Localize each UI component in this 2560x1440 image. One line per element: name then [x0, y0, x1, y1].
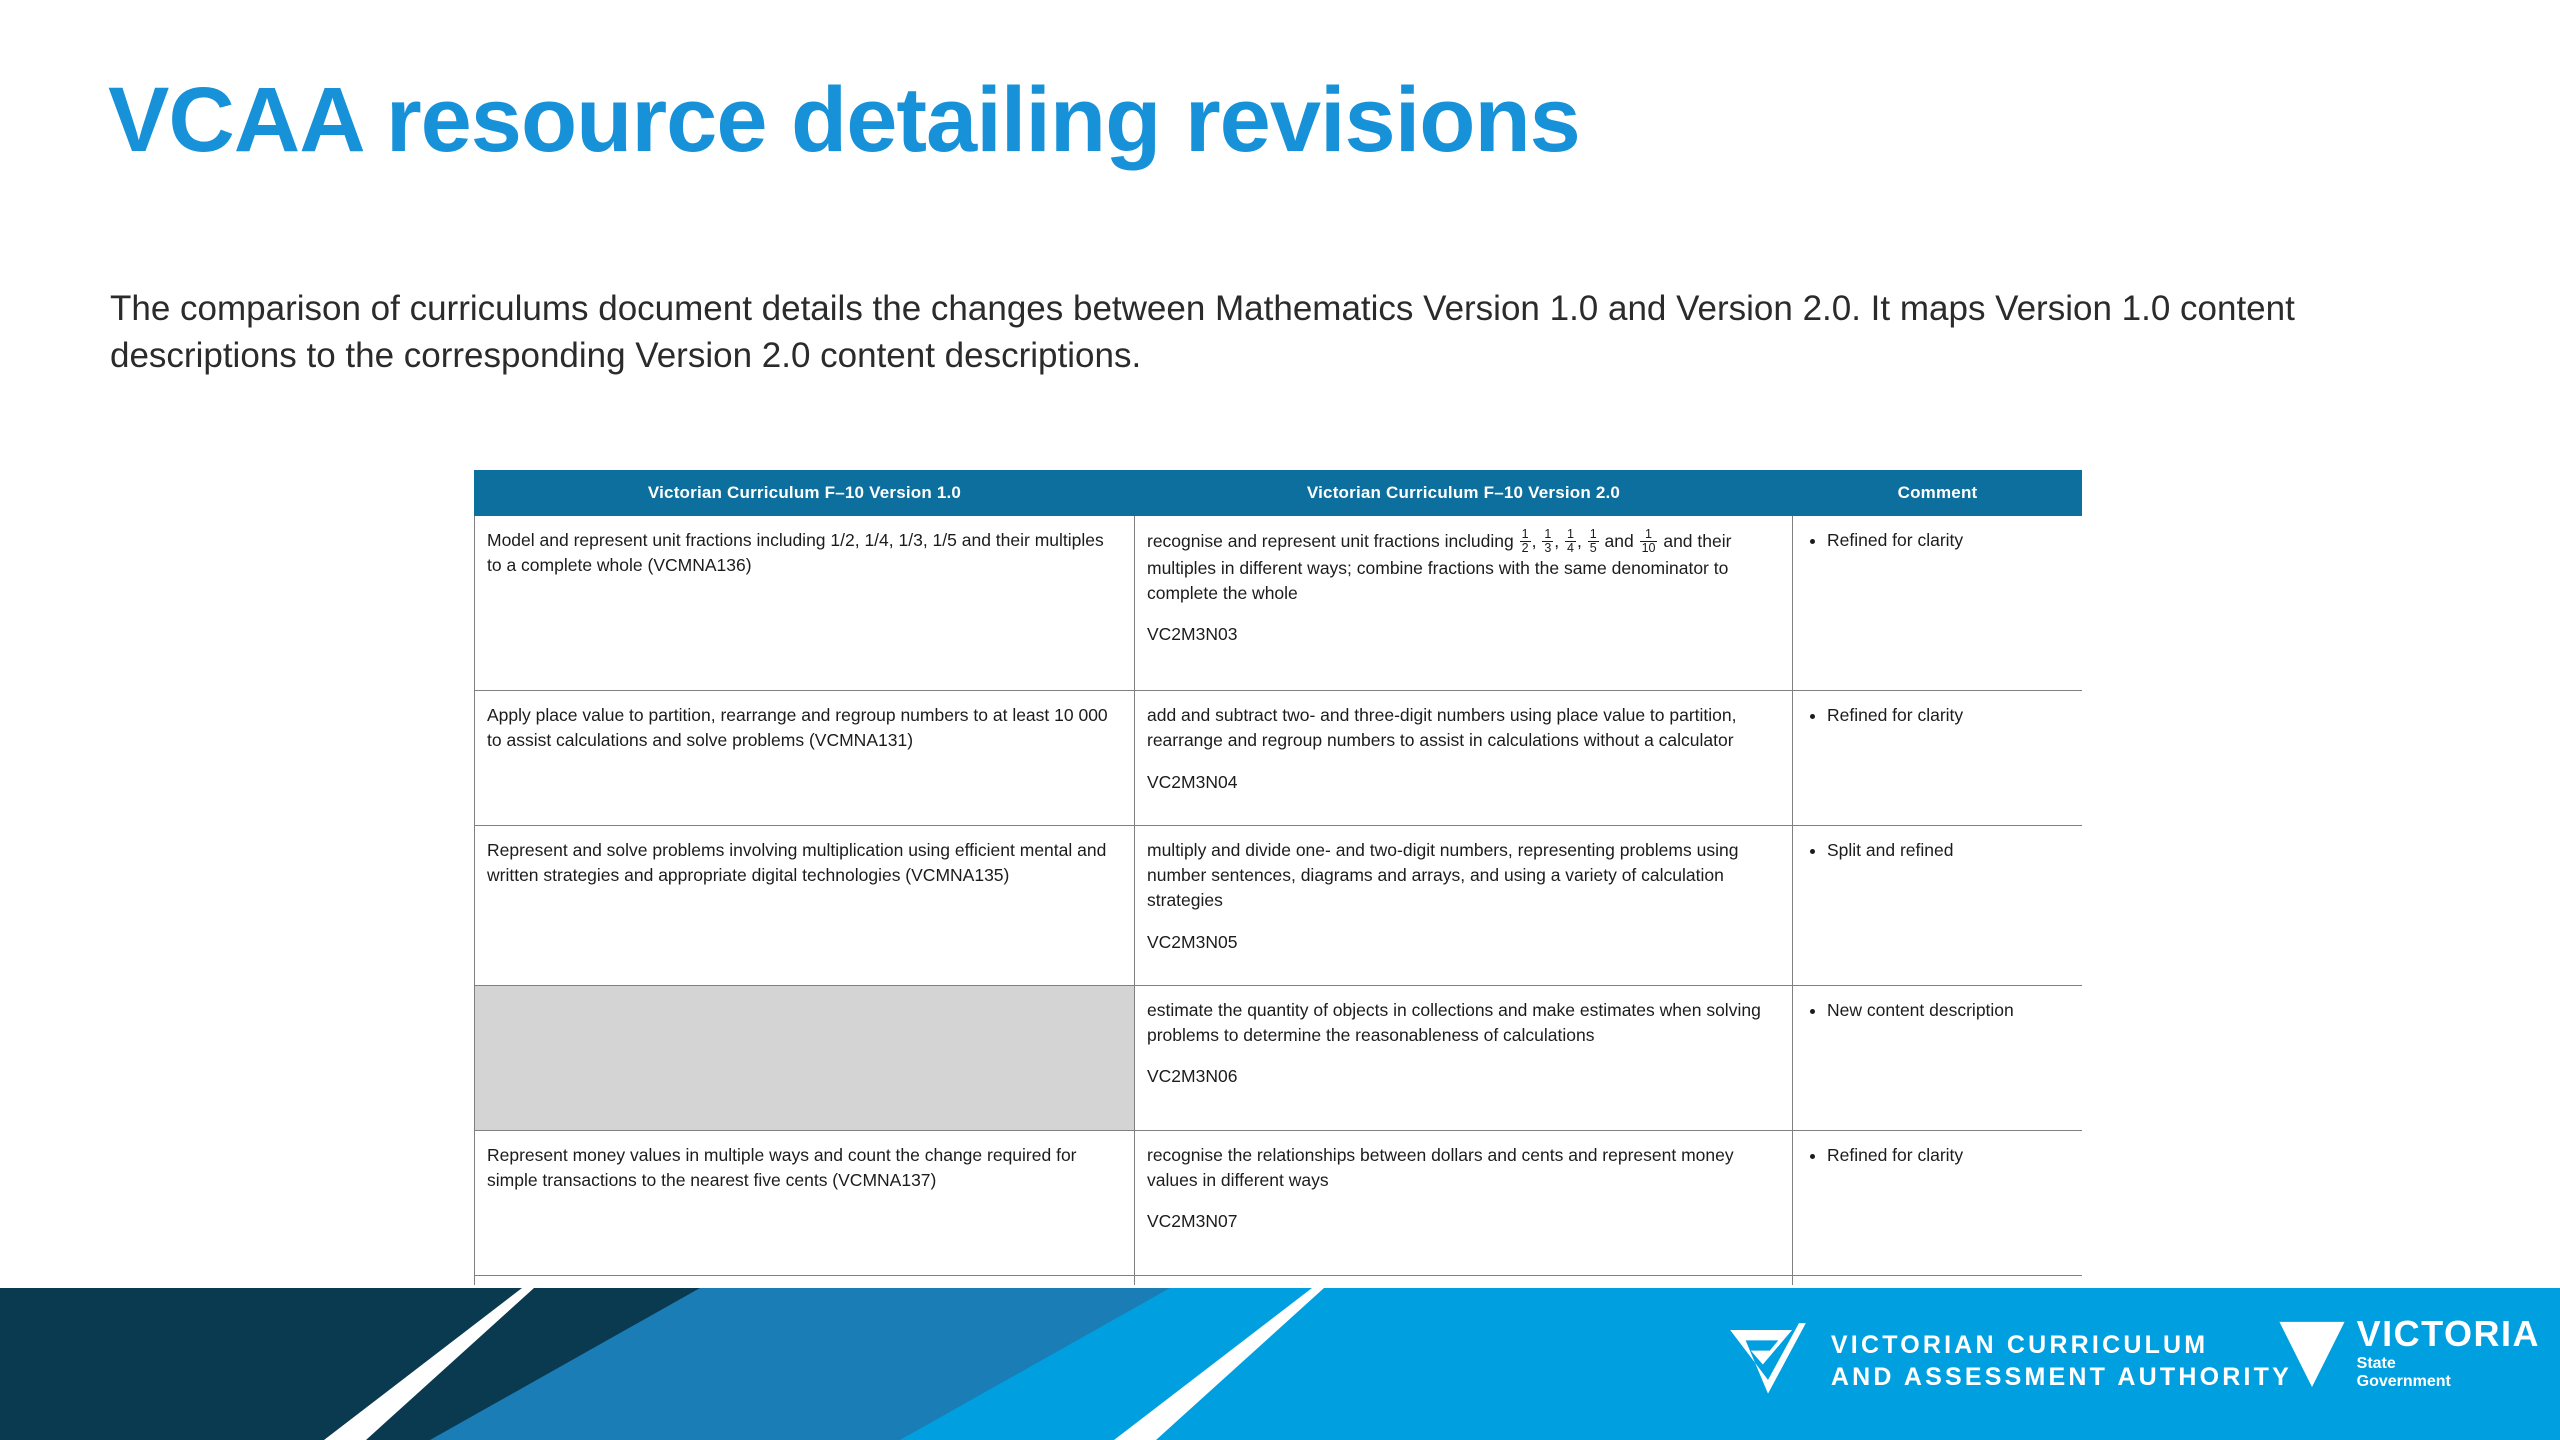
fraction-one-fifth: 15	[1588, 528, 1599, 556]
table-row: Model and represent unit fractions inclu…	[475, 516, 2083, 691]
table-row: estimate the quantity of objects in coll…	[475, 985, 2083, 1130]
intro-paragraph: The comparison of curriculums document d…	[110, 286, 2490, 379]
vcaa-logo-line-1: VICTORIAN CURRICULUM	[1831, 1329, 2292, 1361]
cell-comment	[1793, 1275, 2083, 1285]
version-2-code: VC2M3N03	[1147, 622, 1780, 647]
comment-list: Refined for clarity	[1805, 703, 2070, 728]
version-2-code: VC2M3N06	[1147, 1064, 1780, 1089]
cell-version-1: Represent and solve problems involving m…	[475, 825, 1135, 985]
vcaa-chevron-icon	[1725, 1318, 1811, 1404]
cell-version-2	[1135, 1275, 1793, 1285]
column-header-version-2: Victorian Curriculum F–10 Version 2.0	[1135, 471, 1793, 516]
comment-item: Refined for clarity	[1827, 1143, 2070, 1168]
version-2-code: VC2M3N07	[1147, 1209, 1780, 1234]
version-1-text: Apply place value to partition, rearrang…	[487, 703, 1122, 754]
cell-comment: Refined for clarity	[1793, 516, 2083, 691]
victoria-logo-subtitle-line-2: Government	[2357, 1373, 2540, 1391]
cell-version-1: Apply place value to partition, rearrang…	[475, 691, 1135, 826]
vcaa-logo: VICTORIAN CURRICULUM AND ASSESSMENT AUTH…	[1725, 1318, 2292, 1404]
cell-comment: Split and refined	[1793, 825, 2083, 985]
fraction-one-tenth: 110	[1640, 528, 1658, 556]
version-1-text: Model and represent unit fractions inclu…	[487, 528, 1122, 579]
version-2-code: VC2M3N04	[1147, 770, 1780, 795]
table-row: Represent money values in multiple ways …	[475, 1130, 2083, 1275]
version-2-text-before: recognise and represent unit fractions i…	[1147, 531, 1519, 551]
comment-list: Refined for clarity	[1805, 1143, 2070, 1168]
comment-item: Split and refined	[1827, 838, 2070, 863]
comparison-table-container: Victorian Curriculum F–10 Version 1.0 Vi…	[474, 470, 2082, 1285]
comment-item: Refined for clarity	[1827, 528, 2070, 553]
comment-item: Refined for clarity	[1827, 703, 2070, 728]
cell-version-2: add and subtract two- and three-digit nu…	[1135, 691, 1793, 826]
cell-version-2: recognise the relationships between doll…	[1135, 1130, 1793, 1275]
version-1-text: Represent and solve problems involving m…	[487, 838, 1122, 889]
cell-version-1-empty	[475, 985, 1135, 1130]
column-header-comment: Comment	[1793, 471, 2083, 516]
table-row-clipped	[475, 1275, 2083, 1285]
comment-list: New content description	[1805, 998, 2070, 1023]
column-header-version-1: Victorian Curriculum F–10 Version 1.0	[475, 471, 1135, 516]
fraction-one-half: 12	[1520, 528, 1531, 556]
comment-list: Refined for clarity	[1805, 528, 2070, 553]
fraction-one-third: 13	[1542, 528, 1553, 556]
vcaa-logo-line-2: AND ASSESSMENT AUTHORITY	[1831, 1361, 2292, 1393]
victoria-state-government-logo: VICTORIA State Government	[2275, 1314, 2540, 1392]
footer-band: VICTORIAN CURRICULUM AND ASSESSMENT AUTH…	[0, 1288, 2560, 1440]
cell-version-1	[475, 1275, 1135, 1285]
comment-list: Split and refined	[1805, 838, 2070, 863]
version-2-text: multiply and divide one- and two-digit n…	[1147, 838, 1780, 914]
table-header-row: Victorian Curriculum F–10 Version 1.0 Vi…	[475, 471, 2083, 516]
victoria-logo-wordmark: VICTORIA	[2357, 1316, 2540, 1352]
victoria-triangle-icon	[2275, 1314, 2349, 1392]
table-row: Represent and solve problems involving m…	[475, 825, 2083, 985]
cell-version-2: multiply and divide one- and two-digit n…	[1135, 825, 1793, 985]
fraction-one-quarter: 14	[1565, 528, 1576, 556]
version-2-code: VC2M3N05	[1147, 930, 1780, 955]
victoria-logo-text: VICTORIA State Government	[2357, 1316, 2540, 1391]
version-1-text: Represent money values in multiple ways …	[487, 1143, 1122, 1194]
cell-version-1: Model and represent unit fractions inclu…	[475, 516, 1135, 691]
footer-chevron-slash-right	[1090, 1288, 1390, 1440]
version-2-text-middle: and	[1600, 531, 1639, 551]
victoria-logo-subtitle: State Government	[2357, 1355, 2540, 1391]
version-2-text: estimate the quantity of objects in coll…	[1147, 998, 1780, 1049]
version-2-text: add and subtract two- and three-digit nu…	[1147, 703, 1780, 754]
cell-version-2: estimate the quantity of objects in coll…	[1135, 985, 1793, 1130]
cell-comment: Refined for clarity	[1793, 691, 2083, 826]
comment-item: New content description	[1827, 998, 2070, 1023]
cell-version-1: Represent money values in multiple ways …	[475, 1130, 1135, 1275]
version-2-text: recognise the relationships between doll…	[1147, 1143, 1780, 1194]
comparison-table: Victorian Curriculum F–10 Version 1.0 Vi…	[474, 470, 2082, 1285]
page-title: VCAA resource detailing revisions	[108, 72, 1580, 169]
cell-version-2: recognise and represent unit fractions i…	[1135, 516, 1793, 691]
vcaa-logo-text: VICTORIAN CURRICULUM AND ASSESSMENT AUTH…	[1831, 1329, 2292, 1393]
version-2-text: recognise and represent unit fractions i…	[1147, 528, 1780, 606]
table-row: Apply place value to partition, rearrang…	[475, 691, 2083, 826]
cell-comment: Refined for clarity	[1793, 1130, 2083, 1275]
victoria-logo-subtitle-line-1: State	[2357, 1355, 2540, 1373]
cell-comment: New content description	[1793, 985, 2083, 1130]
